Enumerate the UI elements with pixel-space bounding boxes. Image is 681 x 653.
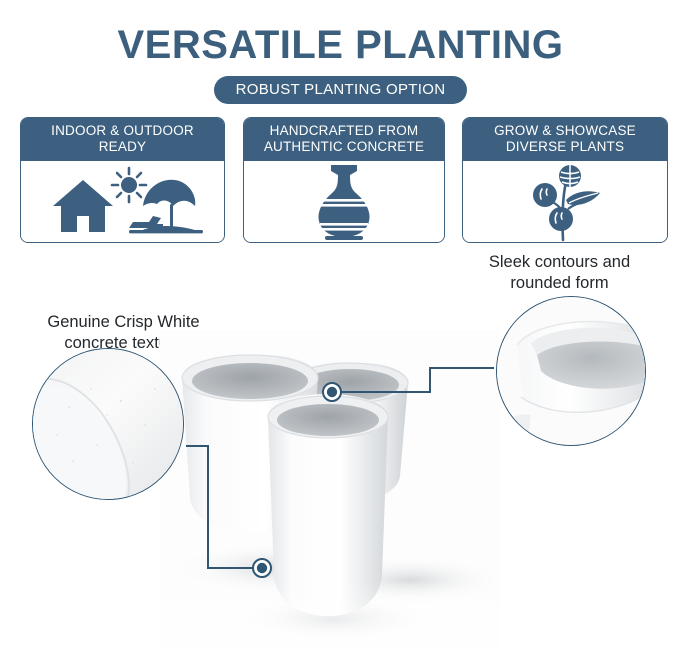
badge-container: ROBUST PLANTING OPTION [0,76,681,104]
callout-label-contours: Sleek contours and rounded form [452,252,667,294]
feature-card-diverse-plants: GROW & SHOWCASE DIVERSE PLANTS [462,117,668,243]
feature-card-body [21,161,224,243]
product-photo [160,330,500,653]
feature-card-header: INDOOR & OUTDOOR READY [21,118,224,161]
feature-card-header: HANDCRAFTED FROM AUTHENTIC CONCRETE [244,118,444,161]
infographic-canvas: VERSATILE PLANTING ROBUST PLANTING OPTIO… [0,0,681,653]
feature-card-body [244,161,444,243]
feature-card-title-line2: DIVERSE PLANTS [467,139,663,155]
feature-card-header: GROW & SHOWCASE DIVERSE PLANTS [463,118,667,161]
feature-card-title-line1: INDOOR & OUTDOOR [25,123,220,139]
callout-line1: Sleek contours and [452,252,667,273]
status-badge: ROBUST PLANTING OPTION [214,76,468,104]
concrete-texture-closeup [33,349,183,499]
magnifier-bubble-texture [32,348,184,500]
feature-card-title-line1: HANDCRAFTED FROM [248,123,440,139]
feature-card-title-line1: GROW & SHOWCASE [467,123,663,139]
feature-card-row: INDOOR & OUTDOOR READY [0,117,681,245]
feature-card-authentic-concrete: HANDCRAFTED FROM AUTHENTIC CONCRETE [243,117,445,243]
planter-group-illustration [160,330,500,653]
feature-card-title-line2: AUTHENTIC CONCRETE [248,139,440,155]
callout-line2: rounded form [452,273,667,294]
pot-rim-closeup [497,297,645,445]
feature-card-body [463,161,667,243]
house-sun-beach-umbrella-icon [39,166,207,238]
page-title: VERSATILE PLANTING [0,22,681,68]
feature-card-indoor-outdoor: INDOOR & OUTDOOR READY [20,117,225,243]
magnifier-bubble-contours [496,296,646,446]
feature-card-title-line2: READY [25,139,220,155]
concrete-vase-icon [307,163,381,241]
berry-plant-branch-icon [522,162,608,242]
